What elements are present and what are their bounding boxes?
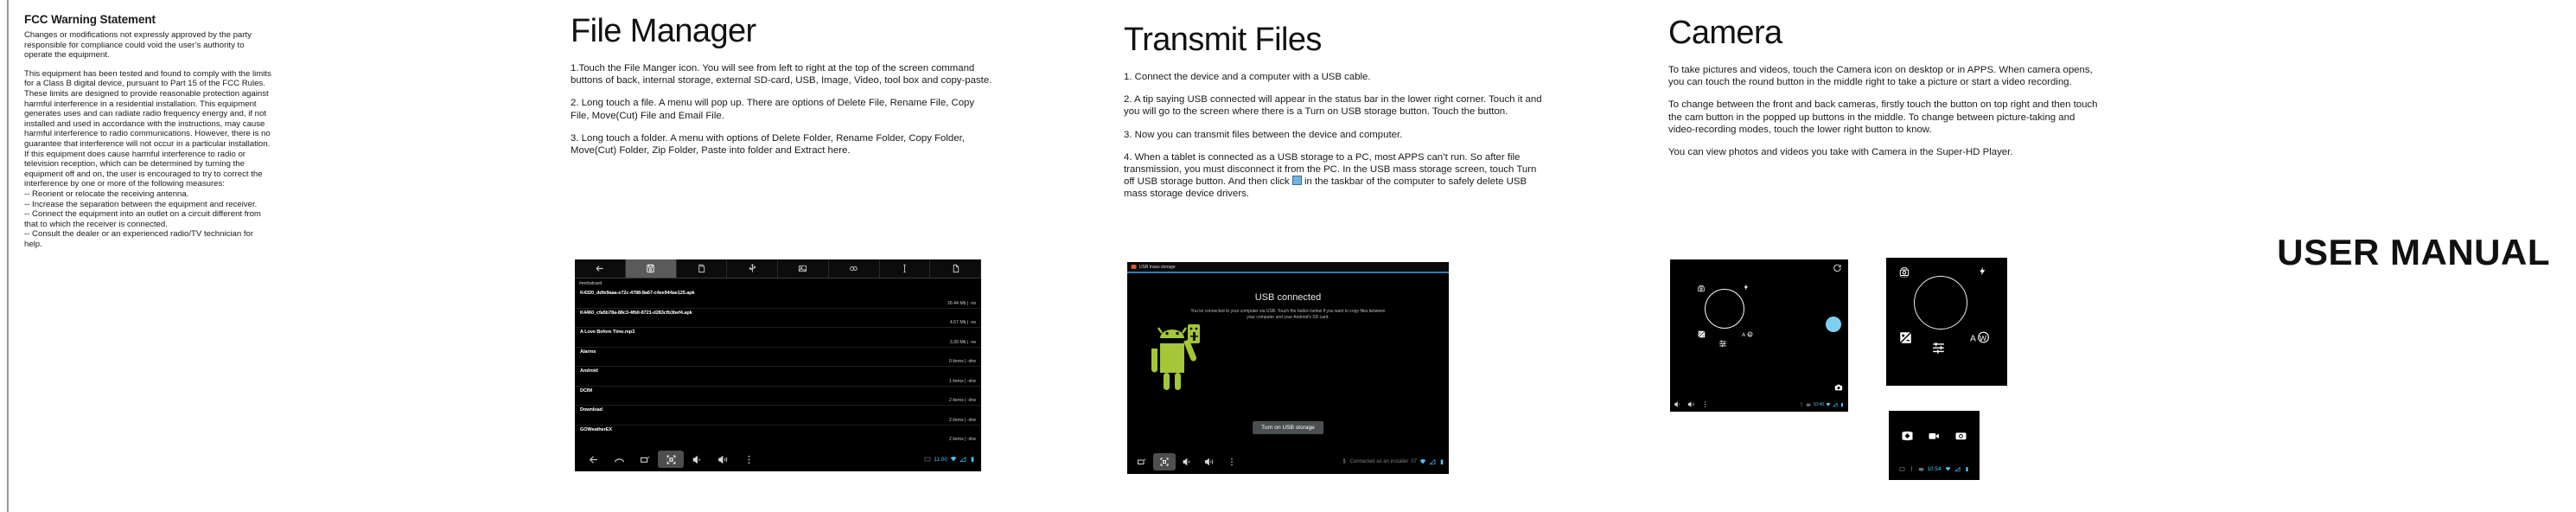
battery-icon (969, 456, 976, 463)
volume-down-icon[interactable] (1674, 397, 1681, 412)
camera-modes-screenshot: 10:54 (1889, 411, 1980, 480)
wifi-icon (1419, 458, 1426, 465)
transmit-files-title: Transmit Files (1124, 21, 1547, 59)
file-list-row[interactable]: DCIM 2 items | -drw (575, 387, 981, 406)
video-mode-icon[interactable] (1928, 430, 1941, 445)
file-name: GOWeatherEX (580, 427, 612, 432)
safely-remove-hardware-icon (1292, 176, 1302, 185)
file-meta: 4.57 Mb | -rw (950, 320, 976, 325)
camera-modes-status-area: 10:54 (1889, 466, 1980, 472)
overflow-menu-icon[interactable] (736, 451, 762, 468)
usb-connected-body: USB connected You’ve connected to your c… (1127, 273, 1449, 450)
signal-icon (960, 456, 966, 463)
overflow-menu-icon[interactable] (1221, 453, 1243, 470)
camera-mode-row (1889, 430, 1980, 445)
switch-camera-icon[interactable] (1898, 266, 1910, 283)
file-meta: 2 items | -drw (949, 418, 976, 423)
usb-icon (1799, 402, 1804, 407)
white-balance-icon[interactable]: AW (1742, 327, 1753, 342)
usb-notification-icon (1131, 264, 1137, 270)
camera-controls-zoom-screenshot: AW (1886, 258, 2007, 386)
flash-icon[interactable] (1743, 280, 1750, 296)
file-manager-screenshot: /mnt/sdcard K4320_ddfe9aaa-e72c-4788-8a6… (575, 259, 981, 471)
android-robot-usb-illustration (1146, 321, 1205, 398)
camera-control-ring[interactable] (1705, 289, 1744, 329)
volume-down-icon[interactable] (1176, 453, 1198, 470)
white-balance-icon[interactable]: AW (1970, 330, 1989, 349)
volume-up-icon[interactable] (710, 451, 736, 468)
file-manager-nav-bar: 11:00 (575, 447, 981, 471)
camera-mode-icon[interactable] (1834, 381, 1843, 396)
panorama-mode-icon[interactable] (1901, 430, 1914, 445)
tab-image[interactable] (778, 259, 829, 278)
usb-status-label: USB mass storage (1139, 265, 1176, 270)
back-nav-icon[interactable] (580, 451, 606, 468)
svg-text:W: W (1980, 334, 1986, 342)
usb-icon (1341, 458, 1348, 465)
settings-sliders-icon[interactable] (1718, 336, 1727, 352)
camera-nav-bar: 10:40 (1670, 398, 1848, 412)
tab-video[interactable] (829, 259, 880, 278)
status-clock: 10:40 (1813, 402, 1824, 407)
fcc-measure-item: -- Increase the separation between the e… (24, 200, 271, 210)
fcc-measures-list: -- Reorient or relocate the receiving an… (24, 189, 271, 250)
svg-text:W: W (1748, 332, 1751, 336)
usb-connected-block: USB connected You’ve connected to your c… (1189, 292, 1387, 320)
fcc-measure-item: -- Consult the dealer or an experienced … (24, 229, 271, 249)
camera-saved-icon (1918, 466, 1924, 472)
file-list-row[interactable]: K4320_ddfe9aaa-e72c-4788-8a67-c4ee944ae1… (575, 289, 981, 309)
camera-saved-icon (1806, 402, 1811, 407)
screenshot-nav-icon[interactable] (658, 451, 684, 468)
tab-sd-card[interactable] (677, 259, 728, 278)
user-manual-page: FCC Warning Statement Changes or modific… (0, 0, 2576, 512)
file-list-row[interactable]: Alarms 0 items | -drw (575, 348, 981, 368)
file-meta: 2 items | -drw (949, 437, 976, 442)
file-manager-column: File Manager 1.Touch the File Manger ico… (571, 12, 994, 157)
file-meta: 3.39 Mb | -rw (950, 340, 976, 345)
file-list-row[interactable]: A Love Before Time.mp3 3.39 Mb | -rw (575, 328, 981, 348)
tab-toolbox[interactable] (880, 259, 931, 278)
file-list-row[interactable]: Download 2 items | -drw (575, 406, 981, 426)
file-meta: 26.44 Mb | -rw (947, 301, 976, 306)
transmit-files-column: Transmit Files 1. Connect the device and… (1124, 21, 1547, 201)
battery-icon (1840, 402, 1845, 407)
file-manager-step-1: 1.Touch the File Manger icon. You will s… (571, 62, 994, 86)
status-clock: 10:54 (1928, 466, 1942, 472)
shutter-button[interactable] (1826, 317, 1841, 332)
settings-sliders-icon[interactable] (1931, 340, 1946, 359)
exposure-icon[interactable] (1698, 327, 1706, 342)
status-connection-text: Connected as an installer (1350, 459, 1409, 464)
svg-text:A: A (1742, 333, 1745, 338)
file-meta: 1 items | -drw (949, 379, 976, 384)
file-name: K4460_cfa5b78a-88c3-4fb0-8721-d283cfb3be… (580, 310, 692, 316)
usb-status-bar: USB mass storage (1127, 262, 1449, 273)
camera-status-area: 10:40 (1799, 402, 1845, 407)
signal-icon (1833, 402, 1838, 407)
file-list-row[interactable]: GOWeatherEX 2 items | -drw (575, 426, 981, 444)
file-manager-path: /mnt/sdcard (575, 278, 981, 289)
turn-on-usb-storage-button[interactable]: Turn on USB storage (1253, 421, 1323, 434)
file-name: Download (580, 407, 603, 413)
transmit-files-step-4: 4. When a tablet is connected as a USB s… (1124, 151, 1547, 201)
fcc-paragraph-2: This equipment has been tested and found… (24, 69, 271, 189)
status-clock: 07 (1411, 459, 1417, 464)
photo-mode-icon[interactable] (1954, 430, 1967, 445)
file-manager-status-area: 11:00 (924, 456, 976, 463)
fcc-warning-column: FCC Warning Statement Changes or modific… (24, 12, 271, 249)
rotate-refresh-icon[interactable] (1833, 261, 1841, 277)
file-name: Android (580, 368, 598, 374)
battery-icon (1438, 458, 1445, 465)
file-manager-step-3: 3. Long touch a folder. A menu with opti… (571, 132, 994, 157)
battery-icon (1964, 466, 1970, 472)
page-left-rule (7, 0, 9, 512)
transmit-files-step-2: 2. A tip saying USB connected will appea… (1124, 93, 1547, 118)
flash-icon[interactable] (1978, 265, 1987, 282)
file-name: DCIM (580, 388, 592, 394)
wifi-icon (1826, 402, 1831, 407)
transmit-files-screenshot: USB mass storage USB connected You’ve co… (1127, 262, 1449, 474)
file-meta: 0 items | -drw (949, 359, 976, 364)
screenshot-saved-icon (1899, 466, 1905, 472)
recents-nav-icon[interactable] (1131, 453, 1153, 470)
screenshot-nav-icon[interactable] (1153, 453, 1176, 470)
camera-paragraph-3: You can view photos and videos you take … (1668, 146, 2101, 158)
camera-main-screenshot: AW 10:40 (1670, 259, 1848, 412)
tab-back[interactable] (575, 259, 626, 278)
file-manager-file-list[interactable]: K4320_ddfe9aaa-e72c-4788-8a67-c4ee944ae1… (575, 289, 981, 443)
camera-paragraph-2: To change between the front and back cam… (1668, 99, 2101, 136)
fcc-measure-item: -- Reorient or relocate the receiving an… (24, 189, 271, 200)
fcc-measure-item: -- Connect the equipment into an outlet … (24, 209, 271, 229)
wifi-icon (950, 456, 957, 463)
signal-icon (1429, 458, 1436, 465)
status-clock: 11:00 (934, 457, 947, 463)
camera-control-ring[interactable] (1914, 276, 1967, 330)
camera-column: Camera To take pictures and videos, touc… (1668, 14, 2101, 158)
file-name: A Love Before Time.mp3 (580, 330, 634, 335)
camera-paragraph-1: To take pictures and videos, touch the C… (1668, 64, 2101, 88)
usb-connected-subtext: You’ve connected to your computer via US… (1189, 309, 1387, 320)
usb-icon (1909, 466, 1915, 472)
file-manager-step-2: 2. Long touch a file. A menu will pop up… (571, 97, 994, 121)
recents-nav-icon[interactable] (632, 451, 658, 468)
tab-copy-paste[interactable] (930, 259, 981, 278)
exposure-icon[interactable] (1899, 331, 1912, 349)
file-manager-tab-bar (575, 259, 981, 278)
transmit-files-status-area: Connected as an installer 07 (1341, 458, 1445, 465)
screenshot-saved-icon (924, 456, 931, 463)
volume-up-icon[interactable] (1198, 453, 1221, 470)
file-list-row[interactable]: Android 1 items | -drw (575, 367, 981, 387)
svg-text:A: A (1970, 335, 1976, 344)
file-name: Alarms (580, 349, 596, 355)
volume-down-icon[interactable] (684, 451, 710, 468)
tab-usb[interactable] (727, 259, 778, 278)
tab-internal-storage[interactable] (626, 259, 677, 278)
file-list-row[interactable]: K4460_cfa5b78a-88c3-4fb0-8721-d283cfb3be… (575, 309, 981, 329)
file-name: K4320_ddfe9aaa-e72c-4788-8a67-c4ee944ae1… (580, 291, 695, 296)
switch-camera-icon[interactable] (1697, 282, 1706, 298)
user-manual-title: USER MANUAL (2144, 232, 2550, 273)
camera-title: Camera (1668, 14, 2101, 52)
wifi-icon (1945, 466, 1951, 472)
transmit-files-nav-bar: Connected as an installer 07 (1127, 450, 1449, 474)
transmit-files-step-1: 1. Connect the device and a computer wit… (1124, 71, 1547, 83)
home-nav-icon[interactable] (606, 451, 632, 468)
fcc-paragraph-1: Changes or modifications not expressly a… (24, 30, 271, 61)
fcc-heading: FCC Warning Statement (24, 12, 271, 27)
file-meta: 2 items | -drw (949, 398, 976, 403)
usb-connected-heading: USB connected (1189, 292, 1387, 304)
file-manager-title: File Manager (571, 12, 994, 50)
transmit-files-step-3: 3. Now you can transmit files between th… (1124, 129, 1547, 141)
overflow-menu-icon[interactable] (1701, 397, 1709, 412)
signal-icon (1954, 466, 1961, 472)
volume-up-icon[interactable] (1687, 397, 1695, 412)
